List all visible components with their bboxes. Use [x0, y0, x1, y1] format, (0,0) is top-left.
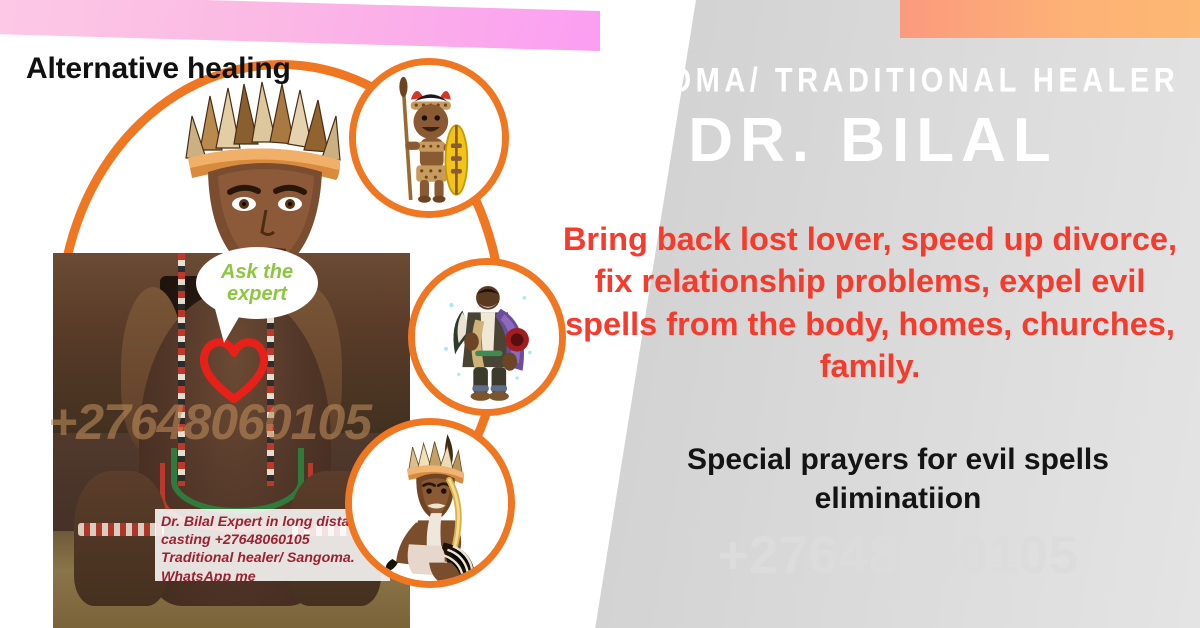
traditional-healer-figure-icon [408, 258, 566, 416]
speech-bubble-label: Ask the expert [196, 261, 318, 305]
photo-arm-left [74, 471, 167, 606]
crouching-warrior-icon [345, 418, 515, 588]
services-description: Bring back lost lover, speed up divorce,… [548, 218, 1192, 387]
ghost-phone-number: +27648060105 [600, 525, 1196, 586]
poster-canvas: Alternative healing [0, 0, 1200, 628]
photo-beaded-cuff-left [78, 523, 164, 536]
red-heart-outline-icon [196, 333, 272, 403]
kicker-heading: SANGOMA/ TRADITIONAL HEALER [566, 62, 1180, 101]
page-title: Alternative healing [26, 52, 291, 86]
doctor-name-heading: DR. BILAL [566, 105, 1180, 176]
speech-bubble: Ask the expert [196, 247, 318, 319]
orange-gradient-bar [900, 0, 1200, 38]
special-prayers-text: Special prayers for evil spells eliminat… [600, 440, 1196, 518]
zulu-warrior-cartoon-icon [349, 58, 509, 218]
